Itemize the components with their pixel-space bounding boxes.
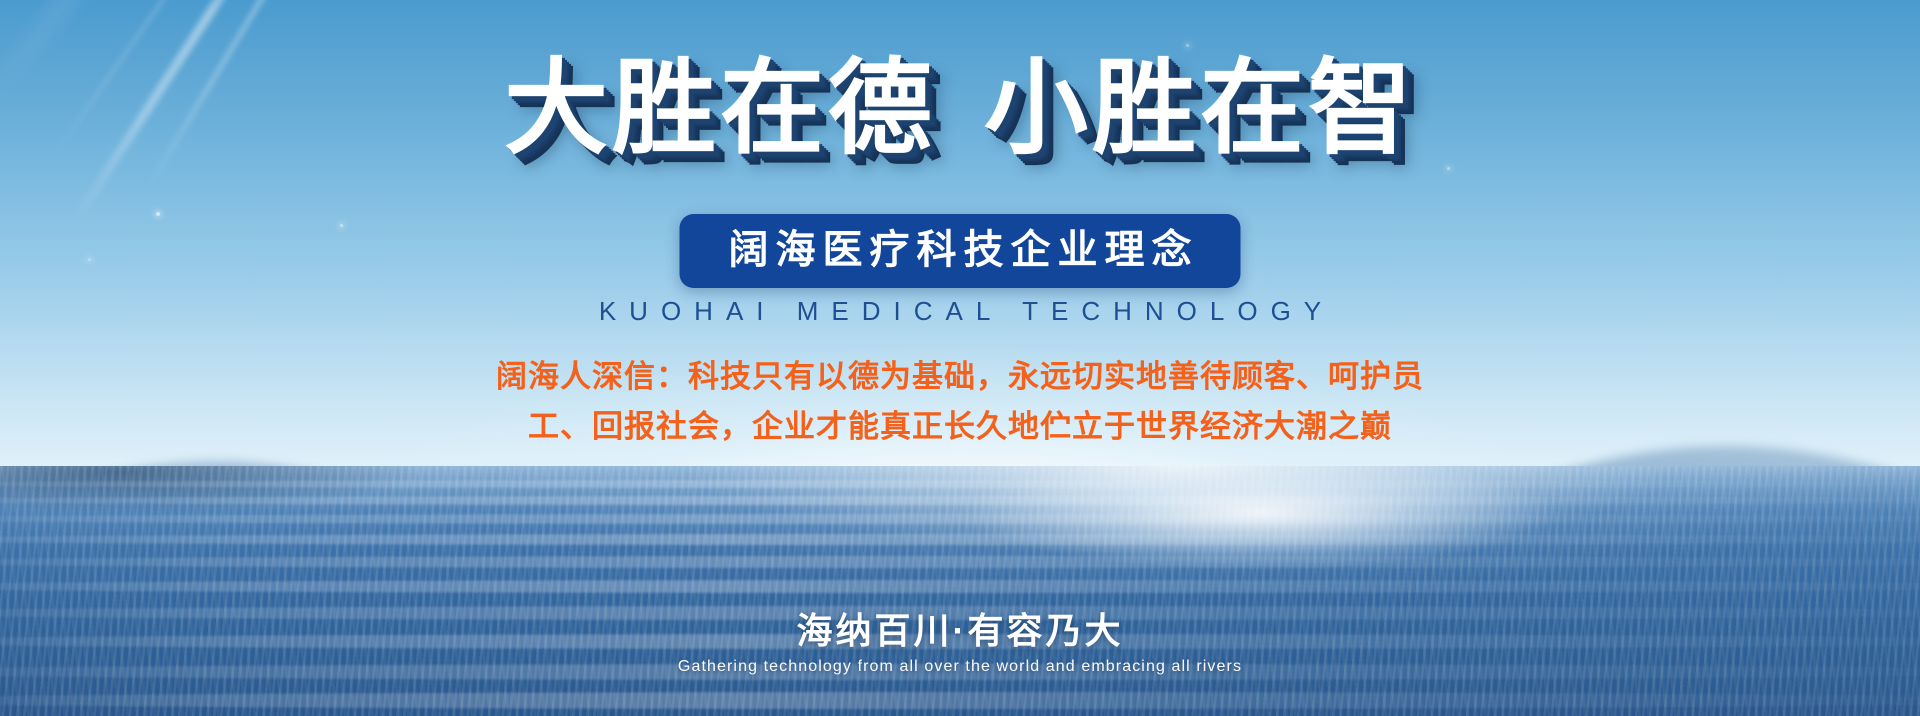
headline-right: 小胜在智 — [984, 51, 1416, 167]
banner-content: 大胜在德小胜在智 阔海医疗科技企业理念 KUOHAI MEDICAL TECHN… — [0, 0, 1920, 716]
headline-left: 大胜在德 — [504, 51, 936, 167]
philosophy-statement: 阔海人深信：科技只有以德为基础，永远切实地善待顾客、呵护员 工、回报社会，企业才… — [440, 352, 1480, 452]
english-subtitle: KUOHAI MEDICAL TECHNOLOGY — [0, 296, 1920, 327]
hero-banner: 大胜在德小胜在智 阔海医疗科技企业理念 KUOHAI MEDICAL TECHN… — [0, 0, 1920, 716]
bottom-tagline-chinese: 海纳百川·有容乃大 — [0, 608, 1920, 653]
company-philosophy-badge-label: 阔海医疗科技企业理念 — [722, 226, 1199, 274]
philosophy-statement-line-1: 阔海人深信：科技只有以德为基础，永远切实地善待顾客、呵护员 — [440, 352, 1480, 402]
philosophy-statement-line-2: 工、回报社会，企业才能真正长久地伫立于世界经济大潮之巅 — [440, 402, 1480, 452]
company-philosophy-badge: 阔海医疗科技企业理念 — [680, 214, 1241, 288]
bottom-tagline: 海纳百川·有容乃大 Gathering technology from all … — [0, 608, 1920, 676]
page-title: 大胜在德小胜在智 — [0, 48, 1920, 171]
bottom-tagline-english: Gathering technology from all over the w… — [0, 658, 1920, 676]
